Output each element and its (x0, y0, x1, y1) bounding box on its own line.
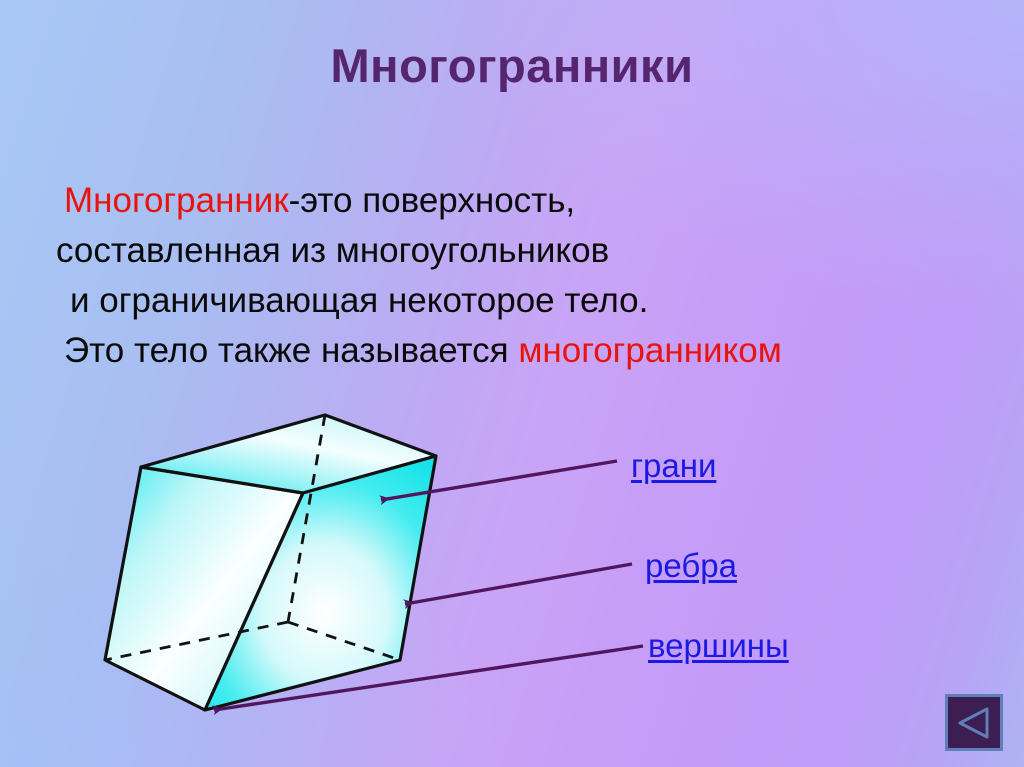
slide-canvas: Многогранники Многогранник-это поверхнос… (0, 0, 1024, 767)
back-triangle-icon (957, 707, 991, 739)
arrow-to-edge (405, 564, 632, 604)
callout-label-edges: ребра (645, 547, 737, 585)
callout-label-faces: грани (631, 447, 716, 485)
previous-slide-button[interactable] (945, 694, 1003, 751)
callout-label-vertices: вершины (648, 627, 789, 665)
prism-illustration (0, 0, 1024, 767)
